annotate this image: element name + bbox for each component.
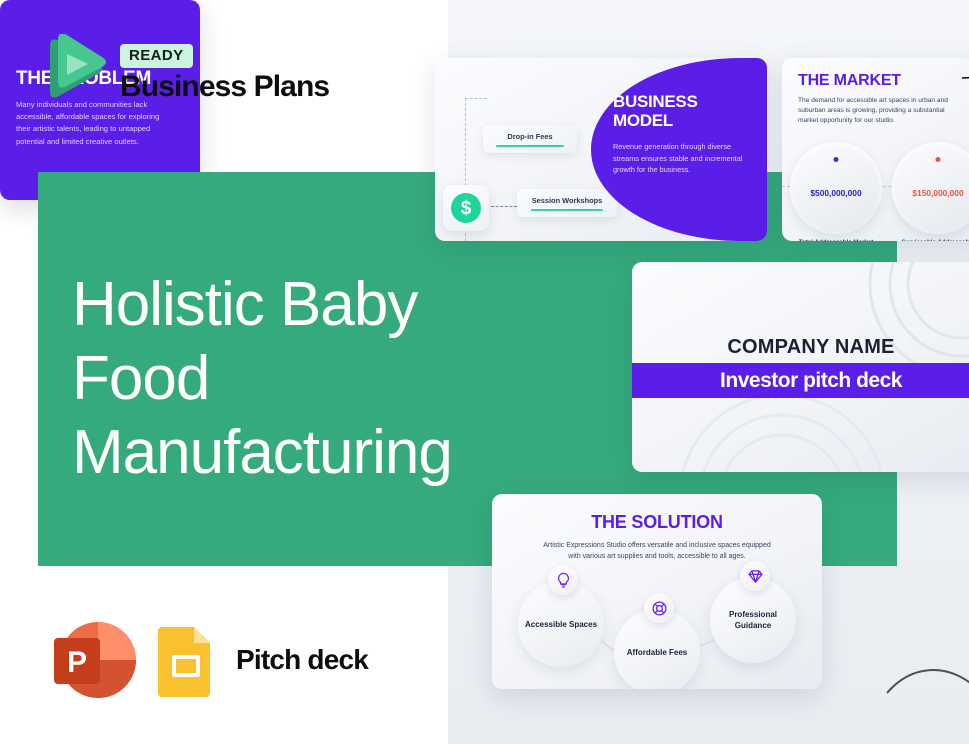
metric-ring: $150,000,000 bbox=[892, 142, 969, 234]
format-label: Pitch deck bbox=[236, 644, 368, 676]
slide-market[interactable]: THE MARKET The demand for accessible art… bbox=[782, 58, 969, 241]
diamond-icon bbox=[740, 561, 770, 591]
promo-banner: READY Business Plans Holistic Baby Food … bbox=[0, 0, 969, 744]
solution-pillars: Accessible Spaces Affordable Fees Profes… bbox=[492, 577, 822, 687]
svg-text:P: P bbox=[67, 646, 87, 679]
slide-business-model[interactable]: $ Drop-in Fees Session Workshops Commiss… bbox=[435, 58, 767, 241]
google-slides-icon[interactable] bbox=[158, 623, 214, 697]
slide-title: BUSINESS MODEL bbox=[613, 92, 751, 130]
connector-branch-mid bbox=[491, 206, 517, 207]
curved-arrow-icon bbox=[960, 74, 969, 116]
metric-value: $150,000,000 bbox=[912, 188, 963, 198]
brand-logo[interactable]: READY Business Plans bbox=[40, 34, 329, 112]
slide-cover[interactable]: COMPANY NAME Investor pitch deck bbox=[632, 262, 969, 472]
brand-name: Business Plans bbox=[120, 71, 329, 103]
ready-badge: READY bbox=[120, 44, 193, 68]
metric-caption: Total Addressable Market (TAM) bbox=[790, 239, 882, 241]
revenue-stream-label: Drop-in Fees bbox=[507, 132, 552, 141]
slide-title: THE MARKET bbox=[798, 72, 969, 90]
company-name: COMPANY NAME bbox=[632, 336, 969, 359]
cover-band: Investor pitch deck bbox=[632, 363, 969, 398]
play-triangle-logo-icon bbox=[40, 34, 106, 112]
metric-ring: $500,000,000 bbox=[790, 142, 882, 234]
format-row: P Pitch deck bbox=[42, 618, 368, 702]
metric-tam: $500,000,000 Total Addressable Market (T… bbox=[790, 142, 882, 241]
revenue-stream-item[interactable]: Session Workshops bbox=[517, 189, 617, 217]
metric-dot bbox=[834, 157, 839, 162]
cover-subtitle: Investor pitch deck bbox=[720, 369, 902, 393]
revenue-stream-item[interactable]: Drop-in Fees bbox=[483, 125, 577, 153]
dollar-coin-icon: $ bbox=[443, 185, 489, 231]
underline-bar bbox=[496, 145, 564, 147]
market-metrics: $500,000,000 Total Addressable Market (T… bbox=[790, 142, 969, 241]
slide-solution[interactable]: THE SOLUTION Artistic Expressions Studio… bbox=[492, 494, 822, 689]
lightbulb-icon bbox=[548, 565, 578, 595]
metric-dot bbox=[936, 157, 941, 162]
slide-description: Artistic Expressions Studio offers versa… bbox=[542, 540, 772, 562]
metric-value: $500,000,000 bbox=[810, 188, 861, 198]
slide-description: The demand for accessible art spaces in … bbox=[798, 96, 948, 126]
page-title: Holistic Baby Food Manufacturing bbox=[72, 268, 502, 490]
revenue-stream-label: Session Workshops bbox=[532, 196, 603, 205]
underline-bar bbox=[531, 209, 603, 211]
connector-branch-top bbox=[465, 98, 487, 99]
slide-description: Revenue generation through diverse strea… bbox=[613, 141, 751, 176]
microsoft-powerpoint-icon[interactable]: P bbox=[42, 618, 136, 702]
slide-title: THE SOLUTION bbox=[492, 512, 822, 533]
metric-caption: Serviceable Addressable Market (SAM) bbox=[892, 239, 969, 241]
lifebuoy-icon bbox=[644, 593, 674, 623]
metric-sam: $150,000,000 Serviceable Addressable Mar… bbox=[892, 142, 969, 241]
